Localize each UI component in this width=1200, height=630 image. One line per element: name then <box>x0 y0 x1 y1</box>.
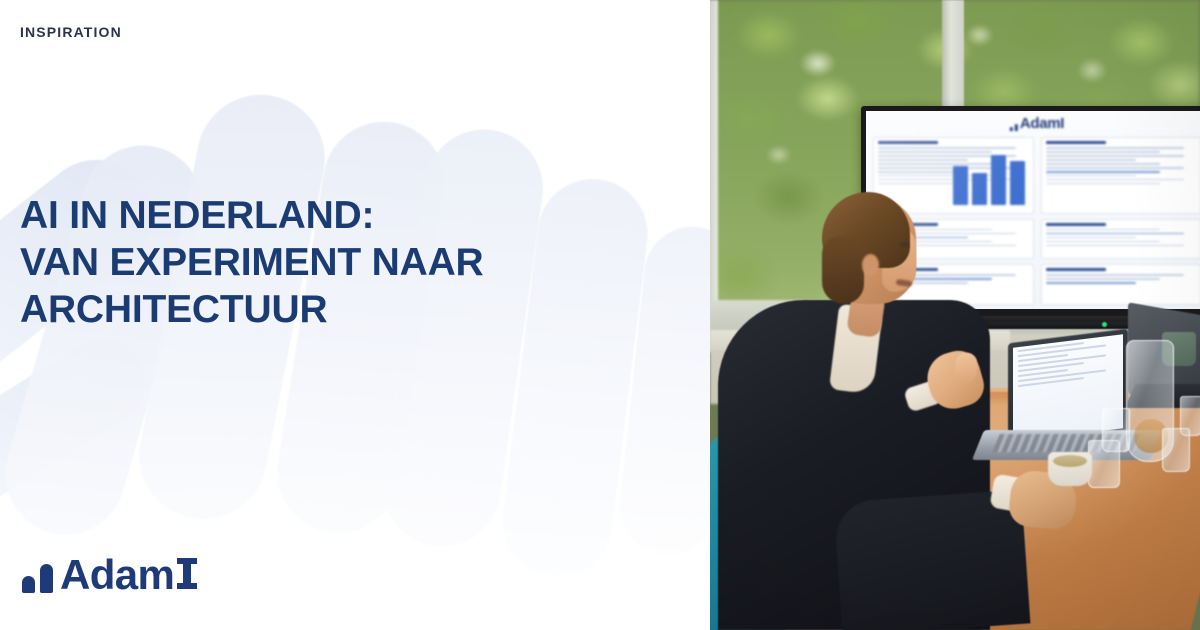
display-brand-logo: AdamI <box>1010 116 1064 131</box>
dashboard-panel <box>1041 219 1200 260</box>
display-screen: AdamI <box>866 111 1200 309</box>
dashboard-panel <box>1041 264 1200 305</box>
bar-chart-logo-icon <box>22 557 53 593</box>
title-line-3: ARCHITECTUUR <box>20 286 660 333</box>
presenter-leg <box>834 490 1031 630</box>
dashboard-column-right <box>1041 137 1200 305</box>
presenter-ear <box>862 254 879 276</box>
content-panel: INSPIRATION AI IN NEDERLAND: VAN EXPERIM… <box>0 0 710 630</box>
brand-wordmark: Adam <box>60 557 197 593</box>
wall-display: AdamI <box>861 106 1200 318</box>
brand-wordmark-i-glyph <box>177 558 197 589</box>
coffee-cup <box>1048 452 1092 486</box>
dashboard-panel <box>1041 137 1200 214</box>
presenter-hair-side <box>822 236 864 304</box>
status-led-icon <box>1102 322 1107 327</box>
drinking-glass <box>1162 428 1190 472</box>
category-label: INSPIRATION <box>20 24 122 40</box>
logo-bar-small <box>22 576 35 593</box>
display-logo-text: AdamI <box>1020 116 1064 131</box>
dashboard-bar-chart <box>953 147 1025 205</box>
page-title: AI IN NEDERLAND: VAN EXPERIMENT NAAR ARC… <box>20 192 660 333</box>
title-line-1: AI IN NEDERLAND: <box>20 192 660 239</box>
brand-wordmark-text: Adam <box>60 557 174 593</box>
presenter-eye <box>900 242 909 247</box>
dashboard-columns <box>873 137 1200 305</box>
display-logo-bar-small <box>1010 127 1013 131</box>
brand-logo[interactable]: Adam <box>22 557 197 593</box>
social-share-card: INSPIRATION AI IN NEDERLAND: VAN EXPERIM… <box>0 0 1200 630</box>
laptop-bar-chart <box>1047 366 1079 392</box>
dashboard-panel <box>873 137 1034 214</box>
hero-photo: AdamI <box>710 0 1200 630</box>
title-line-2: VAN EXPERIMENT NAAR <box>20 239 660 286</box>
drinking-glass <box>1088 440 1120 488</box>
display-logo-bar-large <box>1015 124 1018 131</box>
logo-bar-large <box>40 564 53 593</box>
